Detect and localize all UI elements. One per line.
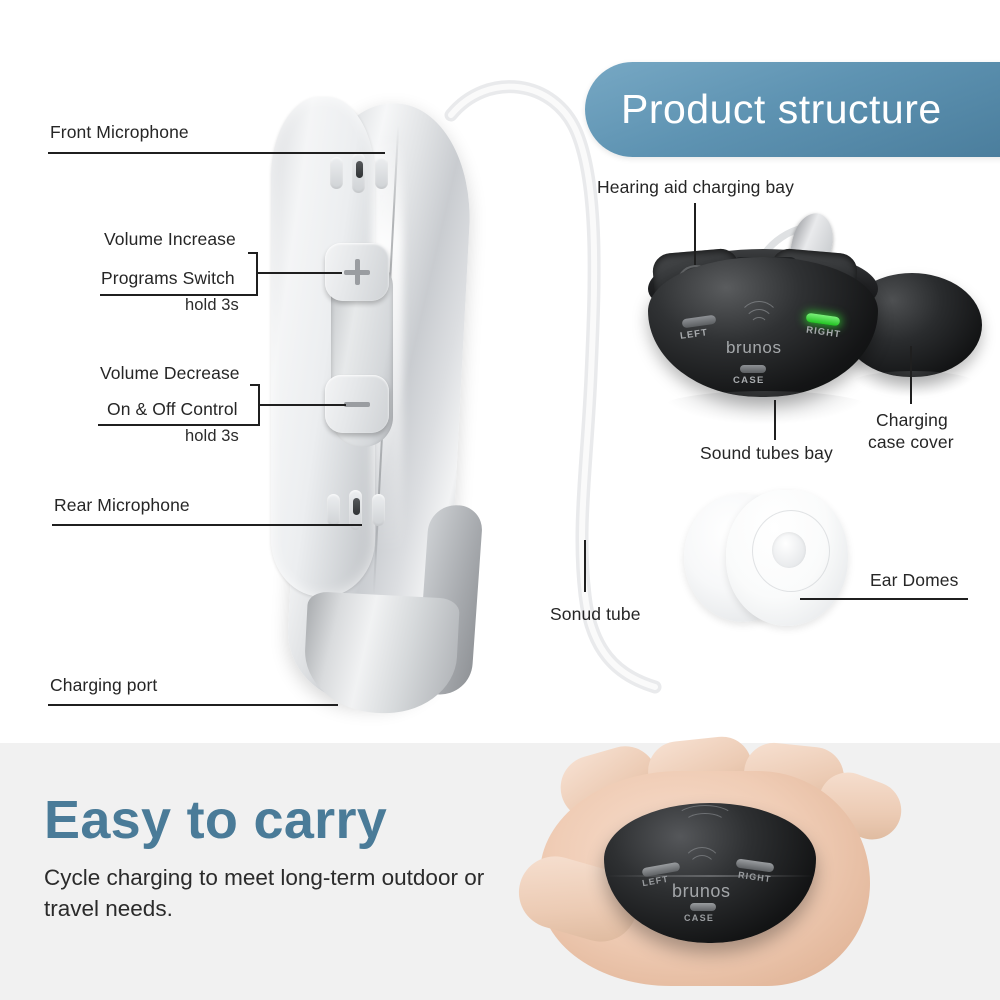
hearing-aid-illustration — [255, 75, 555, 725]
led-indicator-case — [740, 365, 766, 373]
ear-domes-illustration — [680, 480, 860, 660]
case-brand-logo: brunos — [672, 881, 731, 902]
underline-rear-microphone — [52, 524, 317, 526]
leader-sound-tube — [584, 540, 586, 592]
label-sound-tubes-bay: Sound tubes bay — [700, 443, 833, 464]
label-hold-3s-bottom: hold 3s — [185, 427, 239, 446]
easy-to-carry-title: Easy to carry — [44, 789, 387, 851]
easy-to-carry-description: Cycle charging to meet long-term outdoor… — [44, 863, 514, 924]
mic-hole — [356, 161, 363, 178]
hand-holding-case-illustration: LEFT RIGHT brunos CASE — [500, 743, 1000, 1000]
mic-hole — [353, 498, 360, 515]
mic-slot — [330, 157, 343, 189]
label-charging-port: Charging port — [50, 675, 157, 696]
plus-icon — [342, 257, 372, 287]
label-charging-case-cover-line2: case cover — [868, 432, 954, 453]
label-sound-tube: Sonud tube — [550, 604, 641, 625]
case-brand-logo: brunos — [726, 338, 782, 358]
label-programs-switch: Programs Switch — [101, 268, 235, 289]
leader-front-microphone — [345, 152, 385, 154]
label-volume-decrease: Volume Decrease — [100, 363, 240, 384]
underline-charging-port — [48, 704, 338, 706]
bracket-top-tick — [248, 252, 258, 254]
bracket-vertical-top — [256, 252, 258, 296]
minus-icon — [342, 389, 372, 419]
label-on-off-control: On & Off Control — [107, 399, 238, 420]
leader-volume-decrease — [258, 404, 346, 406]
underline-front-microphone — [48, 152, 345, 154]
ear-dome-center-nub — [772, 532, 806, 568]
infographic-stage: Product structure — [0, 0, 1000, 1000]
mic-slot — [375, 157, 388, 189]
leader-rear-microphone — [317, 524, 362, 526]
led-indicator-case — [690, 903, 716, 911]
sound-wave-icon — [688, 855, 716, 883]
underline-on-off-control — [98, 424, 250, 426]
leader-sound-tubes-bay — [774, 400, 776, 440]
label-hearing-aid-charging-bay: Hearing aid charging bay — [597, 177, 794, 198]
underline-ear-domes — [800, 598, 968, 600]
charging-case-illustration: LEFT RIGHT brunos CASE — [620, 205, 1000, 425]
case-reflection — [660, 391, 870, 425]
sound-wave-icon — [684, 813, 726, 833]
label-ear-domes: Ear Domes — [870, 570, 958, 591]
mic-slot — [327, 494, 340, 526]
leader-hearing-aid-charging-bay — [694, 203, 696, 265]
mic-slot — [372, 494, 385, 526]
case-marking-case: CASE — [684, 913, 714, 923]
case-marking-case: CASE — [733, 375, 765, 386]
label-front-microphone: Front Microphone — [50, 122, 189, 143]
easy-to-carry-panel: Easy to carry Cycle charging to meet lon… — [0, 743, 1000, 1000]
label-hold-3s-top: hold 3s — [185, 296, 239, 315]
leader-volume-increase — [256, 272, 342, 274]
product-structure-panel: Product structure — [0, 0, 1000, 743]
bracket-bottom-tick — [248, 294, 258, 296]
label-volume-increase: Volume Increase — [104, 229, 236, 250]
front-microphone-port — [330, 153, 392, 193]
sound-wave-icon — [750, 317, 768, 335]
label-charging-case-cover-line1: Charging — [876, 410, 948, 431]
bracket-top-tick-2 — [250, 384, 260, 386]
label-rear-microphone: Rear Microphone — [54, 495, 190, 516]
bracket-bottom-tick-2 — [250, 424, 260, 426]
leader-charging-case-cover — [910, 346, 912, 404]
